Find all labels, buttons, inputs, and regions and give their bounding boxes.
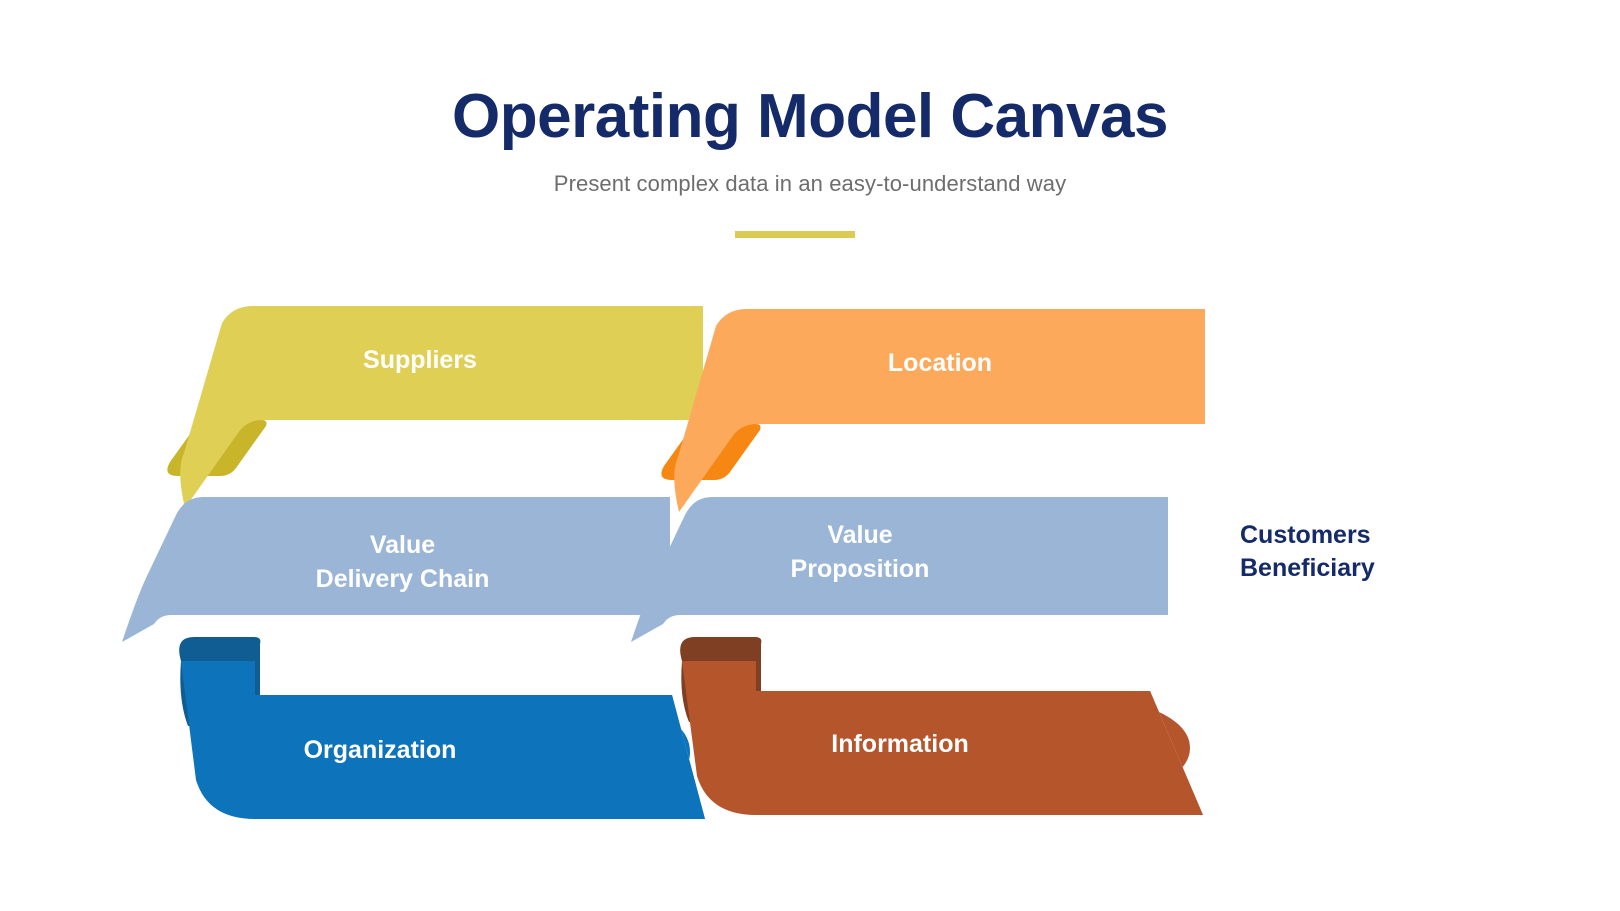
ribbon-value-proposition[interactable] [631, 497, 1168, 642]
ribbon-location-body [674, 309, 1205, 512]
ribbon-value-delivery-chain[interactable] [122, 497, 670, 642]
ribbon-value-proposition-body [631, 497, 1168, 642]
ribbon-location[interactable] [661, 309, 1205, 512]
ribbon-diagram: Suppliers Location Value Delivery Chain … [0, 0, 1620, 911]
ribbon-information[interactable] [680, 637, 1203, 815]
customers-beneficiary-label: Customers Beneficiary [1240, 519, 1450, 584]
ribbon-shapes [0, 0, 1620, 911]
infographic-canvas: Operating Model Canvas Present complex d… [0, 0, 1620, 911]
ribbon-suppliers[interactable] [167, 306, 703, 508]
ribbon-suppliers-body [180, 306, 703, 508]
ribbon-organization[interactable] [179, 637, 705, 819]
ribbon-value-delivery-chain-body [122, 497, 670, 642]
